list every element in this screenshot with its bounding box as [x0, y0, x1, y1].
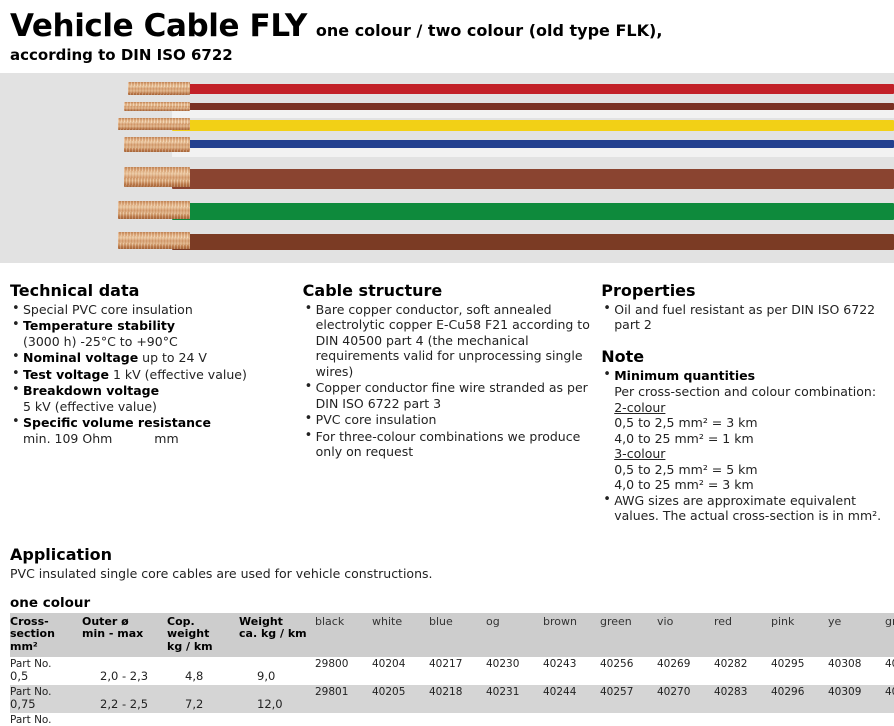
part-number-green: 40257 [600, 685, 657, 698]
spec-table-section: one colour Cross- section mm² Outer ø mi… [0, 595, 894, 726]
col-header-colour-green: green [600, 613, 657, 658]
list-item: Bare copper conductor, soft annealed ele… [303, 302, 602, 380]
col-header-colour-pink: pink [771, 613, 828, 658]
part-number-white: 40205 [372, 685, 429, 698]
tech-item-text: Special PVC core insulation [23, 302, 193, 317]
tech-item-detail: 5 kV (effective value) [23, 399, 303, 415]
col-header-outer-diameter: Outer ø min - max [82, 613, 167, 658]
cable-jacket-red [172, 84, 894, 94]
cell-weight: 9,0 [239, 670, 315, 685]
tech-item-label: Test voltage [23, 367, 109, 382]
empty-cell [828, 698, 885, 713]
copper-conductor-brown-white [124, 102, 190, 111]
spacer-cell [239, 713, 315, 726]
empty-cell [771, 698, 828, 713]
two-colour-label: 2-colour [614, 400, 884, 416]
part-number-og: 40231 [486, 685, 543, 698]
copper-conductor-yellow [118, 118, 190, 130]
cable-structure-list: Bare copper conductor, soft annealed ele… [303, 302, 602, 460]
part-no-label: Part No. [10, 713, 82, 726]
list-item: Special PVC core insulation [10, 302, 303, 318]
empty-cell [885, 698, 894, 713]
part-number-vio: 40269 [657, 657, 714, 670]
col-header-colour-ye: ye [828, 613, 885, 658]
copper-conductor-blue-white [124, 137, 190, 152]
properties-heading: Properties [601, 281, 884, 300]
part-number-red: 40283 [714, 685, 771, 698]
part-number-blue: 40218 [429, 685, 486, 698]
part-number-grey: 40321 [885, 657, 894, 670]
part-number-red: 40282 [714, 657, 771, 670]
copper-conductor-green [118, 201, 190, 219]
part-number-ye: 40309 [828, 685, 885, 698]
col-header-copper-weight: Cop. weight kg / km [167, 613, 239, 658]
part-number-green: 40256 [600, 657, 657, 670]
cell-cross-section: 0,75 [10, 698, 82, 713]
resistance-value: min. 109 Ohm [23, 431, 112, 446]
tech-item-label: Temperature stability [23, 318, 175, 333]
cable-stripe-blue-white [172, 148, 894, 157]
part-number-white: 40204 [372, 657, 429, 670]
empty-cell [885, 670, 894, 685]
cable-jacket-green [172, 203, 894, 220]
spacer-cell [828, 713, 885, 726]
list-item: Copper conductor fine wire stranded as p… [303, 380, 602, 411]
col-header-colour-vio: vio [657, 613, 714, 658]
copper-conductor-brown [124, 167, 190, 187]
empty-cell [543, 698, 600, 713]
list-item: For three-colour combinations we produce… [303, 429, 602, 460]
part-number-pink: 40295 [771, 657, 828, 670]
tech-item-detail: (3000 h) -25°C to +90°C [23, 334, 303, 350]
empty-cell [657, 670, 714, 685]
empty-cell [714, 670, 771, 685]
page-subtitle: one colour / two colour (old type FLK), [316, 21, 663, 40]
empty-cell [315, 670, 372, 685]
list-item: Breakdown voltage 5 kV (effective value) [10, 383, 303, 414]
empty-cell [771, 670, 828, 685]
empty-cell [543, 670, 600, 685]
three-colour-label: 3-colour [614, 446, 884, 462]
application-section: Application PVC insulated single core ca… [0, 525, 894, 582]
technical-data-heading: Technical data [10, 281, 303, 300]
col-header-colour-black: black [315, 613, 372, 658]
empty-cell [315, 698, 372, 713]
min-quantities-block: Per cross-section and colour combination… [601, 384, 884, 493]
empty-cell [828, 670, 885, 685]
list-item: AWG sizes are approximate equivalent val… [601, 493, 884, 524]
part-number-black: 29800 [315, 657, 372, 670]
spacer-cell [167, 685, 239, 698]
col-header-colour-og: og [486, 613, 543, 658]
cable-jacket-brown-dark [172, 234, 894, 250]
part-number-ye: 40308 [828, 657, 885, 670]
col-header-colour-blue: blue [429, 613, 486, 658]
empty-cell [429, 698, 486, 713]
part-number-pink: 40296 [771, 685, 828, 698]
min-quantities-label: Minimum quantities [614, 368, 755, 383]
list-item: Specific volume resistance min. 109 Ohmm… [10, 415, 303, 446]
technical-data-list: Special PVC core insulation Temperature … [10, 302, 303, 447]
tech-item-text: up to 24 V [138, 350, 207, 365]
part-number-vio: 40270 [657, 685, 714, 698]
tech-item-label: Specific volume resistance [23, 415, 211, 430]
empty-cell [429, 670, 486, 685]
empty-cell [657, 698, 714, 713]
part-number-og: 40230 [486, 657, 543, 670]
cell-outer-diameter: 2,2 - 2,5 [82, 698, 167, 713]
spacer-cell [167, 713, 239, 726]
cell-copper-weight: 4,8 [167, 670, 239, 685]
list-item: Temperature stability (3000 h) -25°C to … [10, 318, 303, 349]
spec-table: Cross- section mm² Outer ø min - max Cop… [10, 613, 894, 726]
spacer-cell [372, 713, 429, 726]
cable-jacket-blue-white [172, 140, 894, 148]
spacer-cell [167, 657, 239, 670]
page-title: Vehicle Cable FLY [10, 10, 307, 43]
spacer-cell [239, 657, 315, 670]
list-item: Nominal voltage up to 24 V [10, 350, 303, 366]
cell-cross-section: 0,5 [10, 670, 82, 685]
spacer-cell [657, 713, 714, 726]
spacer-cell [771, 713, 828, 726]
list-item: PVC core insulation [303, 412, 602, 428]
cable-stripe-brown-white [172, 110, 894, 118]
tech-item-label: Nominal voltage [23, 350, 138, 365]
three-colour-line: 0,5 to 2,5 mm² = 5 km [614, 462, 884, 478]
table-caption: one colour [10, 595, 894, 611]
note-list: Minimum quantities [601, 368, 884, 384]
spacer-cell [315, 713, 372, 726]
empty-cell [372, 670, 429, 685]
empty-cell [486, 698, 543, 713]
cable-product-image [0, 73, 894, 263]
list-item: Minimum quantities [601, 368, 884, 384]
tech-item-label: Breakdown voltage [23, 383, 159, 398]
copper-conductor-brown-dark [118, 232, 190, 249]
table-row: 0,52,0 - 2,34,89,0 [10, 670, 894, 685]
cable-jacket-brown-white [172, 103, 894, 110]
cable-jacket-brown [172, 169, 894, 189]
spec-table-head: Cross- section mm² Outer ø min - max Cop… [10, 613, 894, 658]
application-heading: Application [10, 545, 884, 564]
spacer-cell [429, 713, 486, 726]
properties-column: Properties Oil and fuel resistant as per… [601, 281, 884, 525]
empty-cell [714, 698, 771, 713]
spacer-cell [543, 713, 600, 726]
col-header-weight: Weight ca. kg / km [239, 613, 315, 658]
table-row: 0,752,2 - 2,57,212,0 [10, 698, 894, 713]
part-number-brown: 40243 [543, 657, 600, 670]
empty-cell [600, 698, 657, 713]
spec-table-body: Part No.29800402044021740230402434025640… [10, 657, 894, 726]
note-heading: Note [601, 347, 884, 366]
page-standard: according to DIN ISO 6722 [10, 46, 884, 64]
empty-cell [486, 670, 543, 685]
part-number-grey: 40322 [885, 685, 894, 698]
tech-item-detail: min. 109 Ohmmm [23, 431, 303, 447]
cable-structure-heading: Cable structure [303, 281, 602, 300]
copper-conductor-red [128, 82, 190, 95]
page-header: Vehicle Cable FLY one colour / two colou… [0, 0, 894, 64]
part-number-black: 29801 [315, 685, 372, 698]
properties-list: Oil and fuel resistant as per DIN ISO 67… [601, 302, 884, 333]
two-colour-line: 0,5 to 2,5 mm² = 3 km [614, 415, 884, 431]
spacer-cell [885, 713, 894, 726]
cell-weight: 12,0 [239, 698, 315, 713]
note-awg-list: AWG sizes are approximate equivalent val… [601, 493, 884, 524]
application-text: PVC insulated single core cables are use… [10, 566, 884, 582]
col-header-colour-brown: brown [543, 613, 600, 658]
col-header-colour-red: red [714, 613, 771, 658]
spacer-cell [486, 713, 543, 726]
empty-cell [372, 698, 429, 713]
col-header-cross-section: Cross- section mm² [10, 613, 82, 658]
min-qty-intro: Per cross-section and colour combination… [614, 384, 884, 400]
tech-item-text: 1 kV (effective value) [109, 367, 247, 382]
spacer-cell [714, 713, 771, 726]
part-number-blue: 40217 [429, 657, 486, 670]
two-colour-line: 4,0 to 25 mm² = 1 km [614, 431, 884, 447]
cell-outer-diameter: 2,0 - 2,3 [82, 670, 167, 685]
three-colour-line: 4,0 to 25 mm² = 3 km [614, 477, 884, 493]
spacer-cell [600, 713, 657, 726]
resistance-unit: mm [154, 431, 178, 446]
cable-structure-column: Cable structure Bare copper conductor, s… [303, 281, 602, 525]
cell-copper-weight: 7,2 [167, 698, 239, 713]
part-number-brown: 40244 [543, 685, 600, 698]
list-item: Oil and fuel resistant as per DIN ISO 67… [601, 302, 884, 333]
empty-cell [600, 670, 657, 685]
spacer-cell [82, 713, 167, 726]
cable-jacket-yellow [172, 120, 894, 131]
info-columns: Technical data Special PVC core insulati… [0, 263, 894, 525]
list-item: Test voltage 1 kV (effective value) [10, 367, 303, 383]
table-row-partial: Part No. [10, 713, 894, 726]
technical-data-column: Technical data Special PVC core insulati… [10, 281, 303, 525]
col-header-colour-grey: grey [885, 613, 894, 658]
title-line: Vehicle Cable FLY one colour / two colou… [10, 10, 884, 43]
table-header-row: Cross- section mm² Outer ø min - max Cop… [10, 613, 894, 658]
col-header-colour-white: white [372, 613, 429, 658]
